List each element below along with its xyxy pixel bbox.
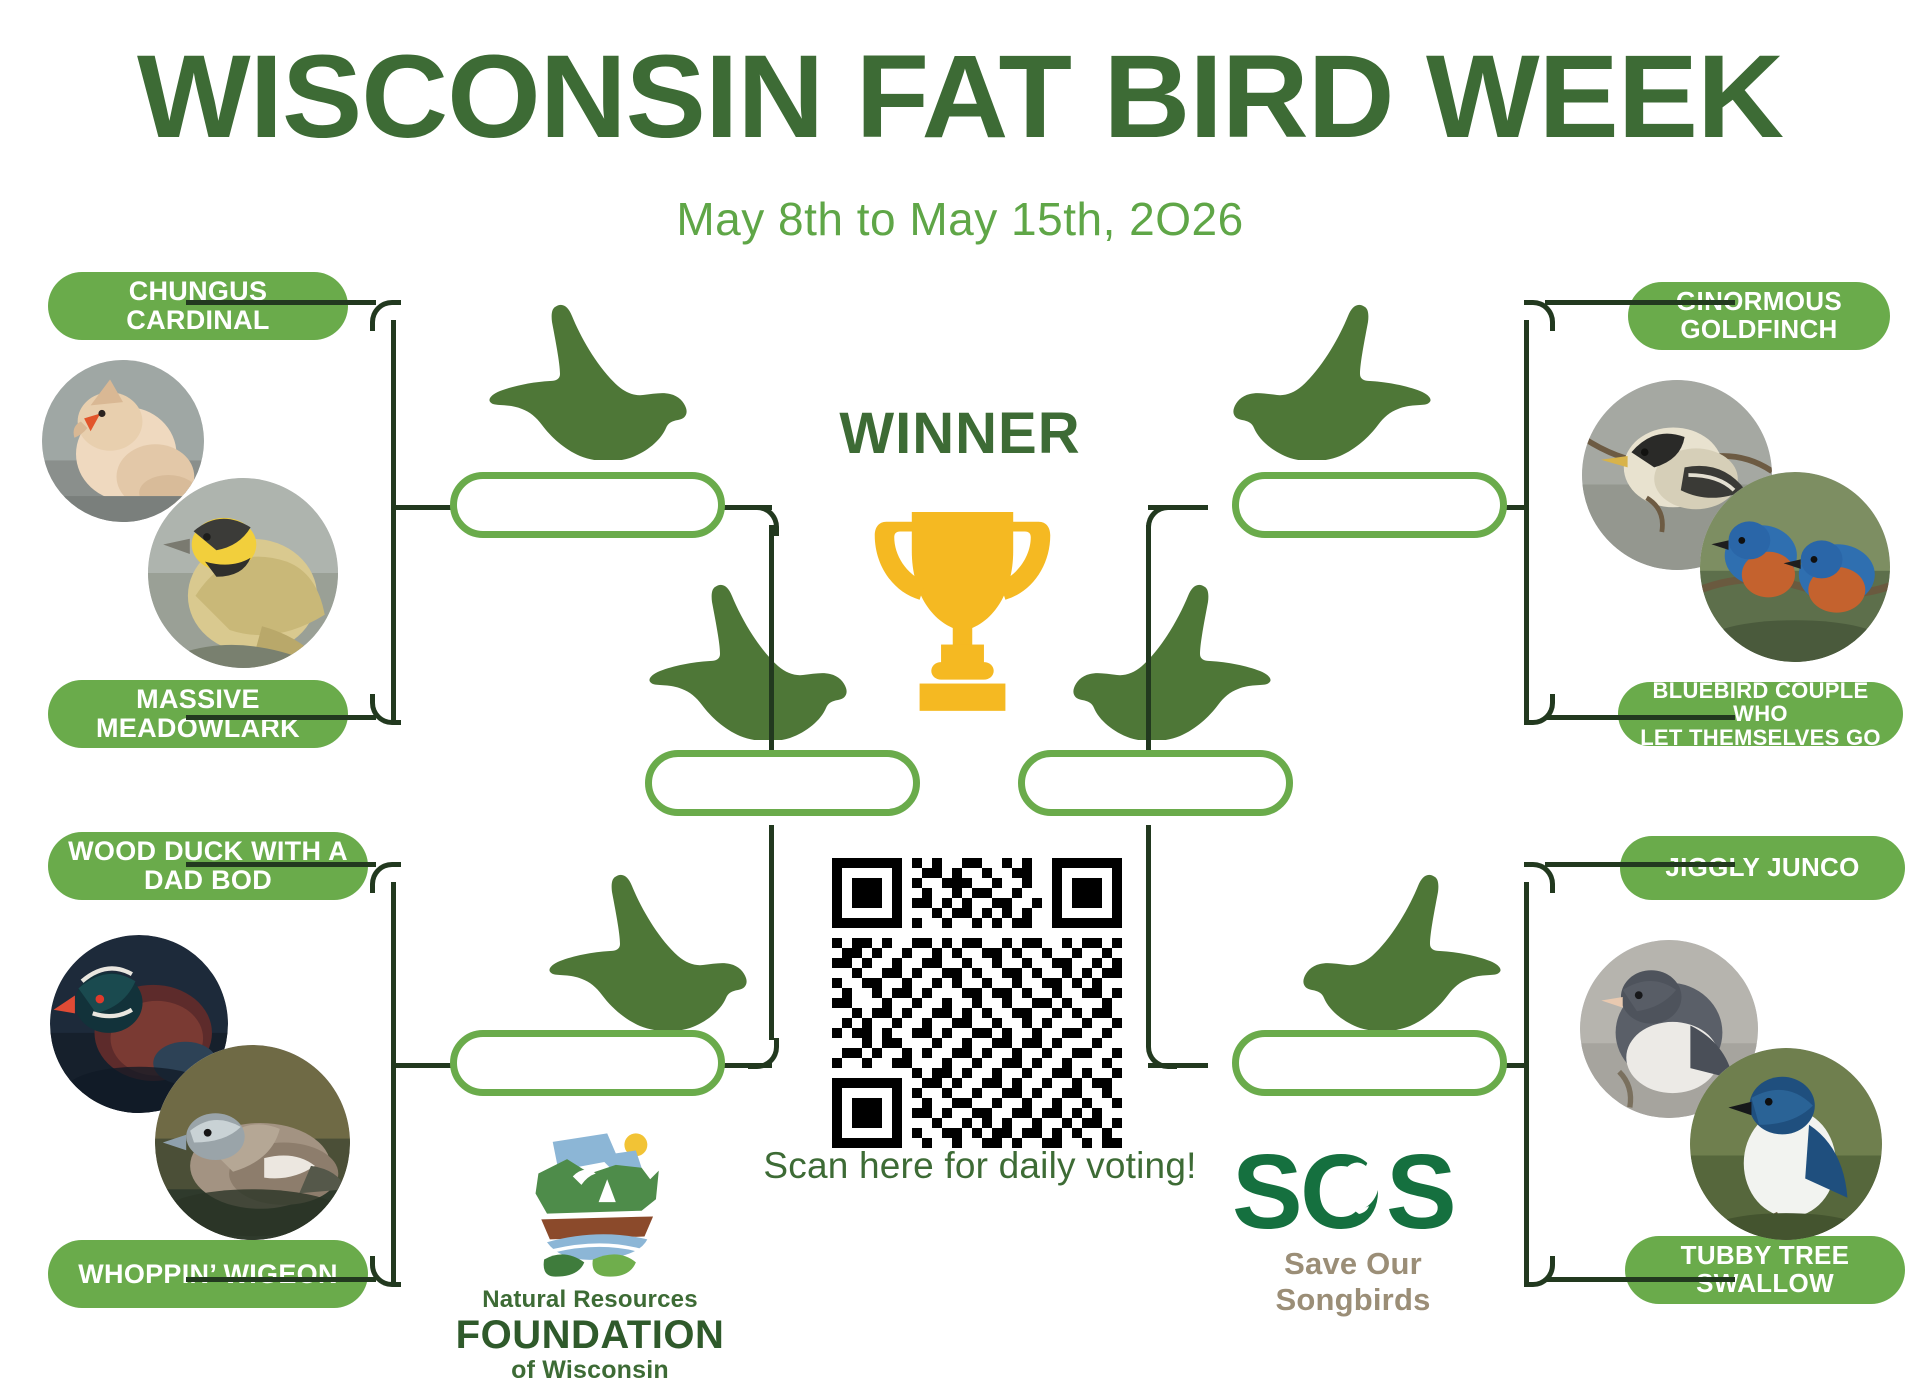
bracket-line (391, 882, 396, 1282)
slot-right-semifinal-bottom[interactable] (1232, 1030, 1507, 1096)
bracket-line (1545, 1277, 1735, 1282)
nrf-line-1: Natural Resources (440, 1286, 740, 1314)
bird-silhouette-icon (540, 850, 780, 1030)
entry-label-line2: CARDINAL (126, 305, 269, 335)
bracket-line (769, 825, 774, 1040)
bracket-line (748, 1038, 779, 1069)
entry-label-line2: SWALLOW (1696, 1268, 1834, 1298)
bracket-line (1545, 300, 1735, 305)
sos-songbird-icon: S O S (1228, 1140, 1478, 1244)
bird-silhouette-icon (640, 560, 880, 740)
slot-left-semifinal-top[interactable] (450, 472, 725, 538)
bracket-entry-whoppin-wigeon[interactable]: WHOPPIN’ WIGEON (48, 1240, 368, 1308)
bracket-line (748, 505, 779, 536)
entry-label-line2: DAD BOD (144, 865, 272, 895)
nrf-logo[interactable]: Natural Resources FOUNDATION of Wisconsi… (440, 1130, 740, 1385)
trophy-icon (865, 500, 1060, 715)
bird-silhouette-icon (1040, 560, 1280, 740)
nrf-line-2: FOUNDATION (440, 1314, 740, 1356)
bracket-line (769, 525, 774, 785)
svg-text:S: S (1232, 1140, 1303, 1244)
bracket-line (186, 715, 376, 720)
qr-caption: Scan here for daily voting! (710, 1145, 1250, 1187)
svg-text:S: S (1386, 1140, 1457, 1244)
entry-label-line1: MASSIVE (136, 684, 260, 714)
bird-photo-cardinal (42, 360, 204, 522)
bracket-line (370, 1256, 401, 1287)
slot-right-final[interactable] (1018, 750, 1293, 816)
bracket-line (186, 862, 376, 867)
sos-tagline: Save Our Songbirds (1228, 1246, 1478, 1318)
entry-label: TUBBY TREE SWALLOW (1681, 1242, 1850, 1297)
wisconsin-state-outline-icon (504, 1130, 676, 1280)
bracket-line (370, 694, 401, 725)
bracket-line (186, 1277, 376, 1282)
bracket-line (1524, 694, 1555, 725)
bird-photo-meadowlark (148, 478, 338, 668)
bracket-line (1146, 525, 1151, 785)
entry-label: CHUNGUS CARDINAL (126, 277, 269, 334)
entry-label: GINORMOUS GOLDFINCH (1676, 288, 1842, 343)
poster-canvas: WISCONSIN FAT BIRD WEEK May 8th to May 1… (0, 0, 1920, 1357)
bracket-line (391, 320, 396, 720)
bird-silhouette-icon (480, 280, 720, 460)
event-dates: May 8th to May 15th, 2O26 (0, 192, 1920, 246)
bracket-line (186, 300, 376, 305)
entry-label: JIGGLY JUNCO (1665, 854, 1859, 882)
bird-silhouette-icon (1270, 850, 1510, 1030)
entry-label: WHOPPIN’ WIGEON (78, 1260, 338, 1289)
bracket-entry-bluebird-couple[interactable]: BLUEBIRD COUPLE WHO LET THEMSELVES GO (1618, 682, 1903, 746)
slot-right-semifinal-top[interactable] (1232, 472, 1507, 538)
entry-label: MASSIVE MEADOWLARK (96, 685, 300, 742)
nrf-line-3: of Wisconsin (440, 1356, 740, 1385)
bird-silhouette-icon (1200, 280, 1440, 460)
page-title: WISCONSIN FAT BIRD WEEK (0, 38, 1920, 156)
bracket-line (1524, 320, 1529, 720)
winner-label: WINNER (760, 400, 1160, 467)
bracket-line (1146, 825, 1151, 1040)
bracket-line (1545, 862, 1735, 867)
sos-logo[interactable]: S O S Save Our Songbirds (1228, 1140, 1478, 1318)
bird-photo-bluebird (1700, 472, 1890, 662)
bracket-line (1524, 1256, 1555, 1287)
entry-label-line2: GOLDFINCH (1680, 314, 1837, 344)
slot-left-semifinal-bottom[interactable] (450, 1030, 725, 1096)
bird-photo-tree-swallow (1690, 1048, 1882, 1240)
bracket-entry-ginormous-goldfinch[interactable]: GINORMOUS GOLDFINCH (1628, 282, 1890, 350)
bracket-entry-tubby-tree-swallow[interactable]: TUBBY TREE SWALLOW (1625, 1236, 1905, 1304)
bracket-entry-massive-meadowlark[interactable]: MASSIVE MEADOWLARK (48, 680, 348, 748)
bracket-line (1524, 882, 1529, 1282)
entry-label-line1: TUBBY TREE (1681, 1240, 1850, 1270)
bracket-entry-chungus-cardinal[interactable]: CHUNGUS CARDINAL (48, 272, 348, 340)
bracket-entry-jiggly-junco[interactable]: JIGGLY JUNCO (1620, 836, 1905, 900)
entry-label: BLUEBIRD COUPLE WHO LET THEMSELVES GO (1632, 679, 1889, 749)
qr-code[interactable] (832, 858, 1122, 1148)
entry-label-line2: LET THEMSELVES GO (1640, 725, 1881, 750)
slot-left-final[interactable] (645, 750, 920, 816)
bird-photo-wigeon (155, 1045, 350, 1240)
bracket-line (1545, 715, 1735, 720)
